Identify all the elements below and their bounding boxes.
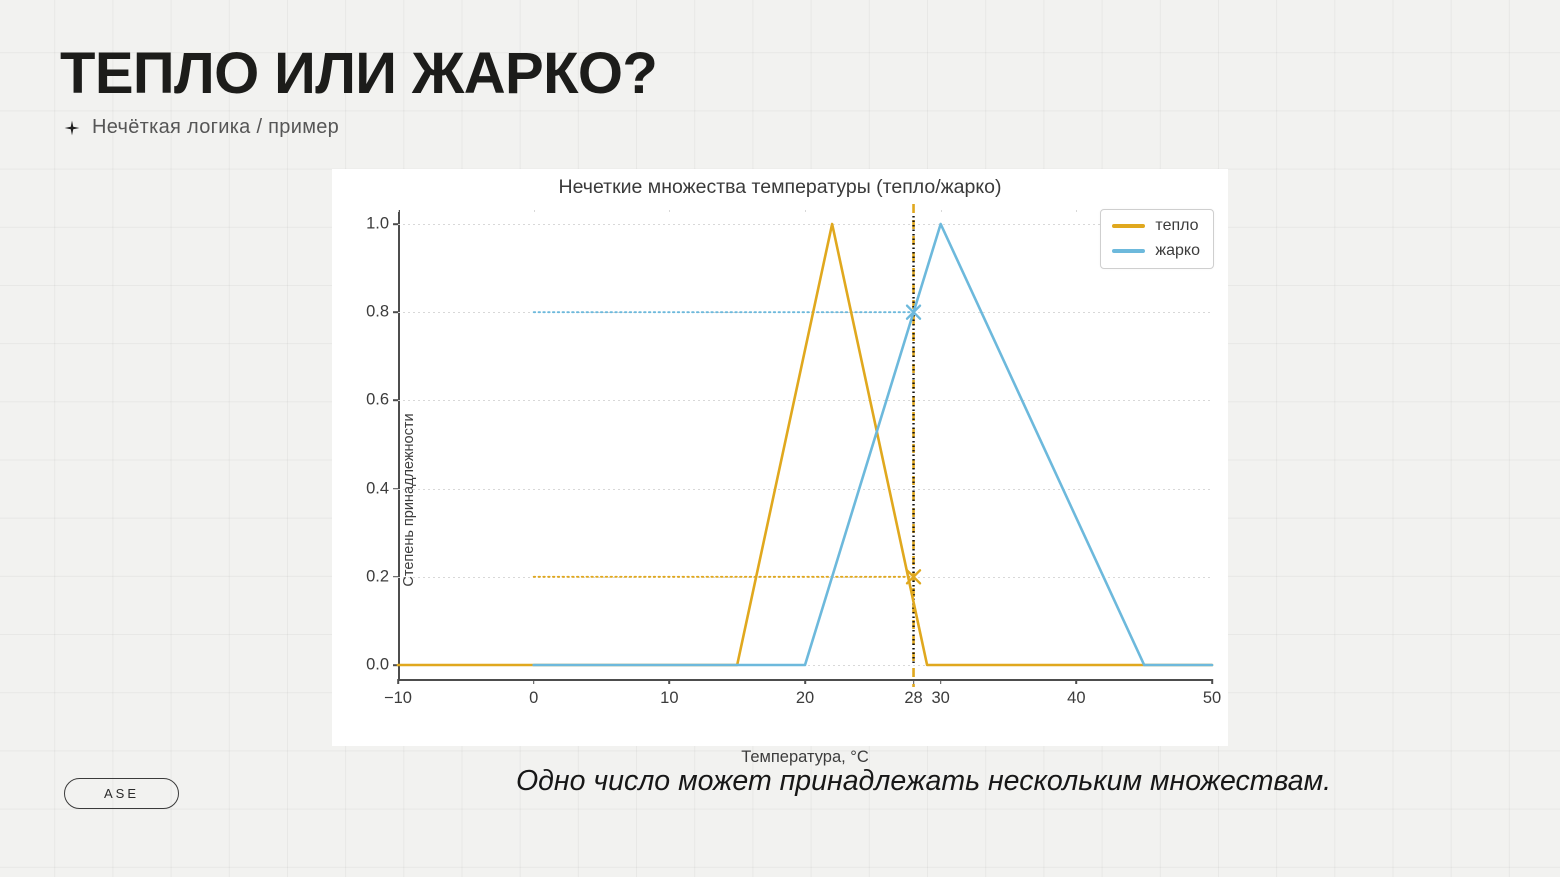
y-axis-title: Степень принадлежности bbox=[401, 413, 417, 586]
x-tick-mark bbox=[804, 679, 806, 684]
x-tick-label: 28 bbox=[904, 689, 922, 708]
legend-label: тепло bbox=[1155, 217, 1198, 235]
gridline-vertical bbox=[1212, 210, 1213, 679]
y-tick-label: 0.8 bbox=[366, 303, 389, 322]
y-tick-label: 0.2 bbox=[366, 567, 389, 586]
page-title: ТЕПЛО ИЛИ ЖАРКО? bbox=[60, 44, 960, 104]
legend-label: жарко bbox=[1155, 242, 1200, 260]
series-plot bbox=[398, 210, 1212, 679]
x-tick-mark bbox=[669, 679, 671, 684]
slide-header: ТЕПЛО ИЛИ ЖАРКО? Нечёткая логика / приме… bbox=[60, 44, 960, 139]
chart-title: Нечеткие множества температуры (тепло/жа… bbox=[332, 176, 1228, 199]
brand-badge: ASE bbox=[64, 778, 179, 809]
x-tick-mark bbox=[533, 679, 535, 684]
y-tick-label: 1.0 bbox=[366, 215, 389, 234]
series-line-тепло bbox=[398, 224, 1212, 665]
x-tick-mark bbox=[913, 679, 915, 684]
chart-panel: Нечеткие множества температуры (тепло/жа… bbox=[332, 169, 1228, 746]
x-tick-mark bbox=[940, 679, 942, 684]
y-tick-label: 0.6 bbox=[366, 391, 389, 410]
x-tick-label: 30 bbox=[931, 689, 949, 708]
subtitle-row: Нечёткая логика / пример bbox=[64, 116, 960, 139]
sparkle-icon bbox=[64, 120, 80, 136]
x-tick-label: 40 bbox=[1067, 689, 1085, 708]
chart-legend[interactable]: тепложарко bbox=[1100, 209, 1214, 269]
x-tick-label: 0 bbox=[529, 689, 538, 708]
legend-swatch bbox=[1112, 224, 1145, 227]
brand-badge-text: ASE bbox=[104, 786, 139, 801]
x-tick-mark bbox=[1076, 679, 1078, 684]
y-tick-label: 0.0 bbox=[366, 656, 389, 675]
plot-area: 0.00.20.40.60.81.0 −100102028304050 Степ… bbox=[398, 210, 1212, 679]
x-tick-label: −10 bbox=[384, 689, 412, 708]
x-tick-label: 20 bbox=[796, 689, 814, 708]
x-tick-label: 10 bbox=[660, 689, 678, 708]
x-tick-label: 50 bbox=[1203, 689, 1221, 708]
subtitle-text: Нечёткая логика / пример bbox=[92, 116, 339, 139]
series-line-жарко bbox=[534, 224, 1212, 665]
legend-swatch bbox=[1112, 249, 1145, 252]
x-tick-mark bbox=[397, 679, 399, 684]
y-tick-label: 0.4 bbox=[366, 479, 389, 498]
legend-entry-тепло[interactable]: тепло bbox=[1112, 217, 1200, 235]
legend-entry-жарко[interactable]: жарко bbox=[1112, 242, 1200, 260]
x-tick-mark bbox=[1211, 679, 1213, 684]
slide-caption: Одно число может принадлежать нескольким… bbox=[516, 765, 1331, 798]
